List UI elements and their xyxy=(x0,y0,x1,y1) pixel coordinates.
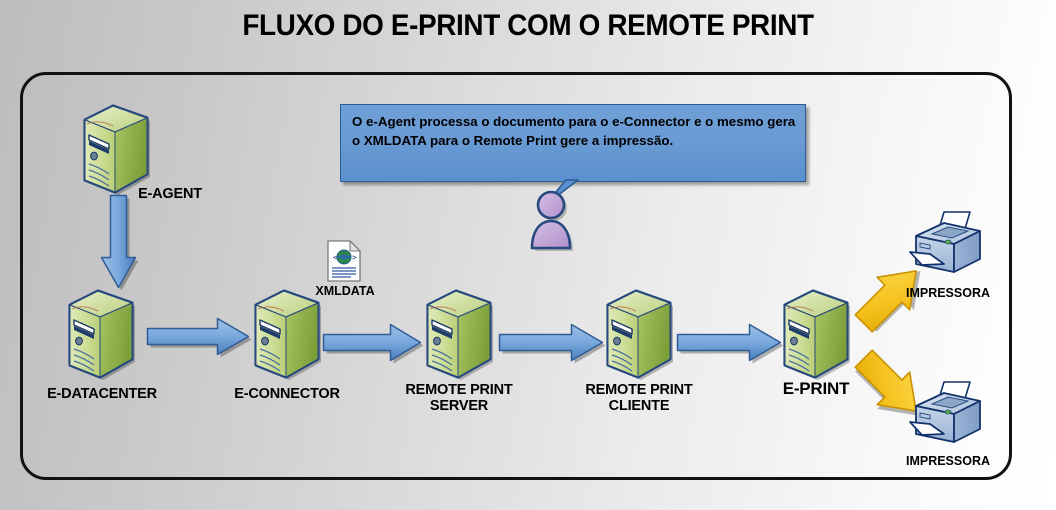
label-e-datacenter: E-DATACENTER xyxy=(27,386,177,402)
label-e-connector: E-CONNECTOR xyxy=(212,386,362,402)
node-e-agent[interactable] xyxy=(78,103,152,195)
label-xmldata: XMLDATA xyxy=(300,283,390,299)
node-e-print[interactable] xyxy=(778,288,852,380)
arrow-connector-to-rpserver xyxy=(322,322,426,364)
label-impressora-top: IMPRESSORA xyxy=(883,285,1013,301)
node-impressora-bottom[interactable] xyxy=(906,378,988,450)
label-impressora-bottom: IMPRESSORA xyxy=(883,453,1013,469)
label-e-agent: E-AGENT xyxy=(95,186,245,202)
label-remote-print-cliente: REMOTE PRINT CLIENTE xyxy=(564,382,714,414)
node-e-datacenter[interactable] xyxy=(63,288,137,380)
svg-text:>: > xyxy=(352,253,357,262)
node-e-connector[interactable] xyxy=(249,288,323,380)
callout-text: O e-Agent processa o documento para o e-… xyxy=(352,113,796,150)
svg-text:<: < xyxy=(333,253,338,262)
callout-box: O e-Agent processa o documento para o e-… xyxy=(340,104,806,182)
page-title: FLUXO DO E-PRINT COM O REMOTE PRINT xyxy=(37,9,1019,43)
arrow-rpcliente-to-eprint xyxy=(676,322,786,364)
arrow-agent-to-datacenter xyxy=(98,193,138,293)
label-remote-print-server: REMOTE PRINT SERVER xyxy=(384,382,534,414)
arrow-datacenter-to-connector xyxy=(146,316,254,358)
xmldata-document-icon[interactable]: < > xyxy=(327,240,361,282)
node-remote-print-cliente[interactable] xyxy=(601,288,675,380)
diagram-canvas: FLUXO DO E-PRINT COM O REMOTE PRINT xyxy=(0,0,1056,510)
node-impressora-top[interactable] xyxy=(906,208,988,280)
user-avatar xyxy=(518,188,584,250)
node-remote-print-server[interactable] xyxy=(421,288,495,380)
arrow-rpserver-to-rpcliente xyxy=(498,322,608,364)
label-e-print: E-PRINT xyxy=(741,381,891,397)
